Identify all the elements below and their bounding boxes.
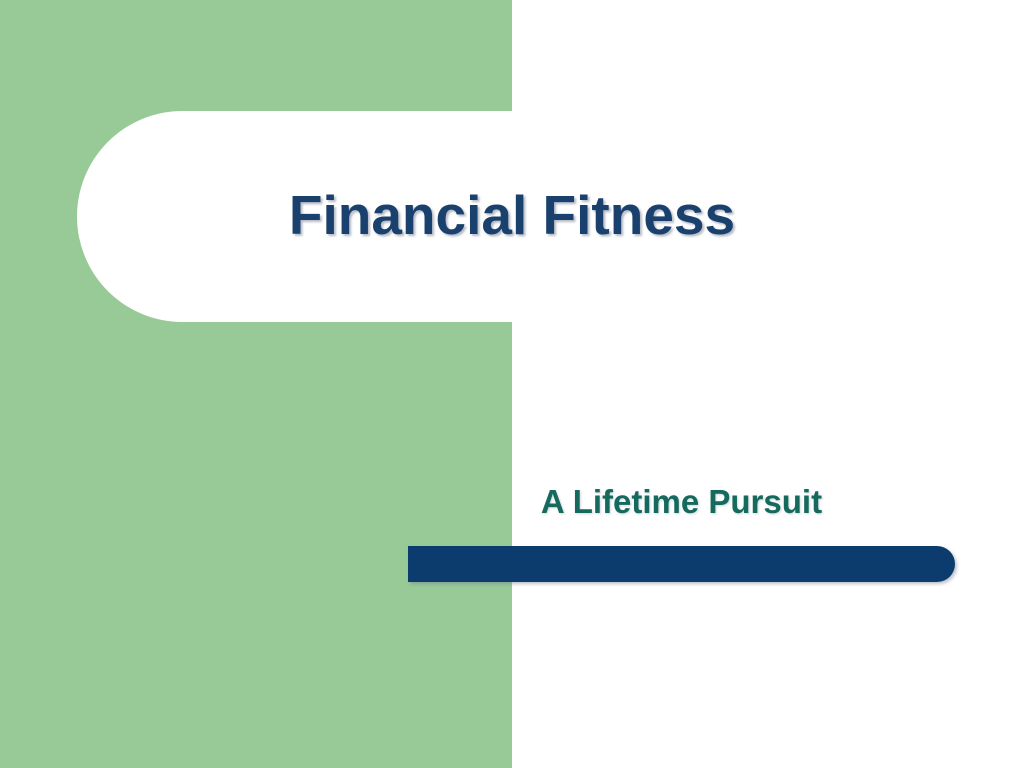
title-slide: Financial Fitness A Lifetime Pursuit <box>0 0 1024 768</box>
slide-title: Financial Fitness <box>0 183 1024 247</box>
subtitle-accent-bar <box>408 546 955 582</box>
slide-subtitle: A Lifetime Pursuit <box>408 483 955 521</box>
